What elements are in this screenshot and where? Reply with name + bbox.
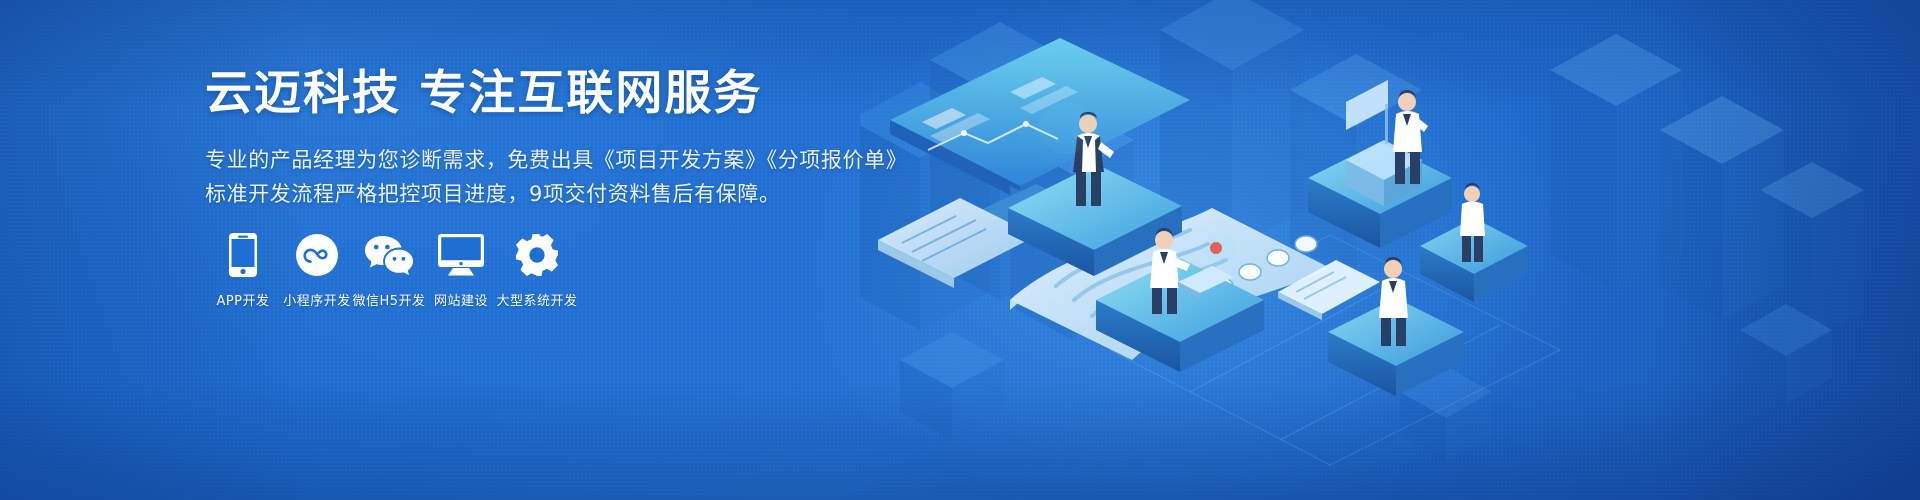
banner-copy: 云迈科技 专注互联网服务 专业的产品经理为您诊断需求，免费出具《项目开发方案》《…	[205, 66, 965, 211]
service-item-large-system[interactable]: 大型系统开发	[497, 232, 577, 309]
wechat-icon	[364, 232, 414, 278]
service-item-mini-program[interactable]: 小程序开发	[281, 232, 353, 309]
gear-icon	[515, 232, 559, 278]
mini-program-icon	[296, 232, 338, 278]
banner-headline: 云迈科技 专注互联网服务	[205, 66, 965, 121]
monitor-icon	[438, 232, 484, 278]
banner-subcopy: 专业的产品经理为您诊断需求，免费出具《项目开发方案》《分项报价单》 标准开发流程…	[205, 143, 965, 211]
isometric-illustration	[860, 0, 1920, 500]
promo-banner: 云迈科技 专注互联网服务 专业的产品经理为您诊断需求，免费出具《项目开发方案》《…	[0, 0, 1920, 500]
service-item-app[interactable]: APP开发	[205, 232, 281, 309]
service-label: 大型系统开发	[497, 290, 578, 309]
service-label: APP开发	[216, 290, 269, 309]
subcopy-line-1: 专业的产品经理为您诊断需求，免费出具《项目开发方案》《分项报价单》	[205, 143, 965, 177]
service-label: 微信H5开发	[352, 290, 425, 309]
service-label: 小程序开发	[283, 290, 351, 309]
service-item-wechat-h5[interactable]: 微信H5开发	[353, 232, 425, 309]
smartphone-icon	[229, 232, 257, 278]
service-list: APP开发 小程序开发	[205, 232, 577, 309]
service-item-website[interactable]: 网站建设	[425, 232, 497, 309]
service-label: 网站建设	[434, 290, 488, 309]
subcopy-line-2: 标准开发流程严格把控项目进度，9项交付资料售后有保障。	[205, 177, 965, 211]
